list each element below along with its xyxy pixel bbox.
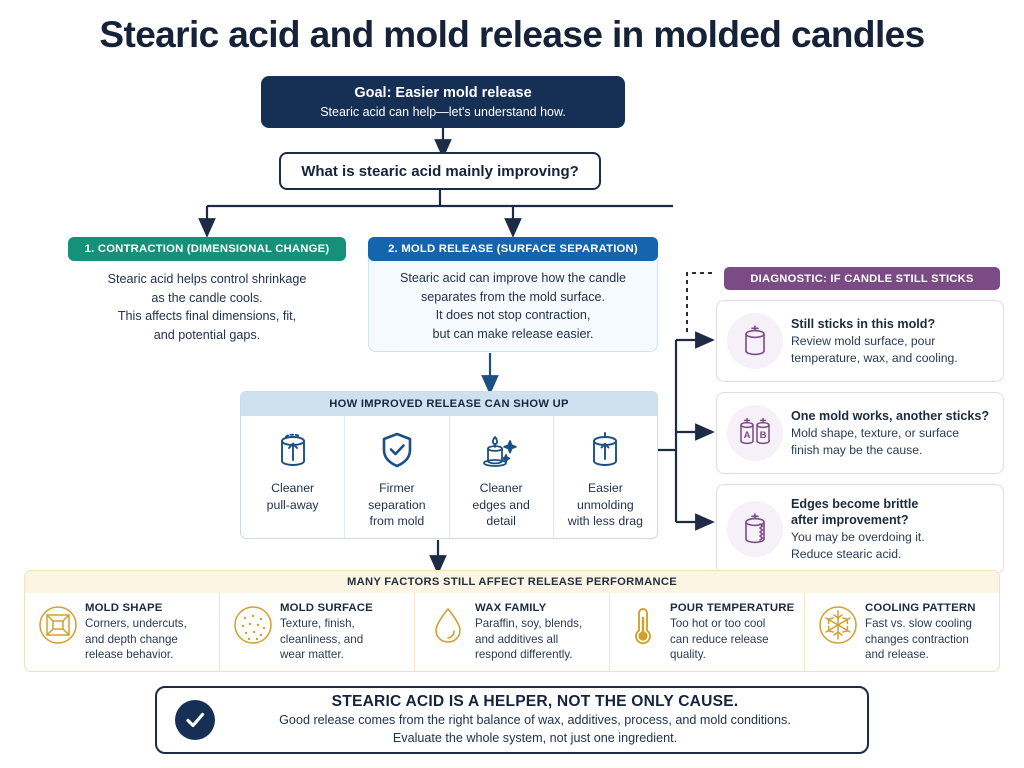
text-line: Firmer xyxy=(368,480,425,497)
text-line: This affects final dimensions, fit, xyxy=(78,307,336,326)
factor-name: WAX FAMILY xyxy=(475,602,601,614)
factor-name: MOLD SHAPE xyxy=(85,602,211,614)
goal-box: Goal: Easier mold release Stearic acid c… xyxy=(261,76,625,128)
text-line: and depth change xyxy=(85,632,211,648)
text-line: Paraffin, soy, blends, xyxy=(475,616,601,632)
text-line: Cleaner xyxy=(472,480,529,497)
text-line: detail xyxy=(472,513,529,530)
branch-contraction-header: 1. CONTRACTION (DIMENSIONAL CHANGE) xyxy=(68,237,346,261)
two-molds-ab-icon: A B xyxy=(727,405,783,461)
diagnostic-card-edges-brittle: Edges become brittle after improvement? … xyxy=(716,484,1004,574)
text-line: from mold xyxy=(368,513,425,530)
release-items: Cleaner pull-away Firmer separation from… xyxy=(241,416,657,539)
text-line: Edges become brittle xyxy=(791,496,993,512)
text-line: Good release comes from the right balanc… xyxy=(221,712,849,730)
text-line: cleanliness, and xyxy=(280,632,406,648)
goal-subtext: Stearic acid can help—let's understand h… xyxy=(320,104,566,120)
cylinder-lift-icon xyxy=(582,427,628,473)
text-line: with less drag xyxy=(568,513,643,530)
text-line: Texture, finish, xyxy=(280,616,406,632)
text-line: wear matter. xyxy=(280,647,406,663)
release-panel-header: HOW IMPROVED RELEASE CAN SHOW UP xyxy=(241,392,657,416)
text-line: and potential gaps. xyxy=(78,326,336,345)
text-line: quality. xyxy=(670,647,796,663)
text-line: Mold shape, texture, or surface xyxy=(791,425,993,442)
factors-panel: MANY FACTORS STILL AFFECT RELEASE PERFOR… xyxy=(24,570,1000,672)
factor-wax-family: WAX FAMILY Paraffin, soy, blends, and ad… xyxy=(415,593,610,672)
branch-mold-release: 2. MOLD RELEASE (SURFACE SEPARATION) Ste… xyxy=(368,237,658,352)
summary-title: STEARIC ACID IS A HELPER, NOT THE ONLY C… xyxy=(221,693,849,711)
summary-body: Good release comes from the right balanc… xyxy=(221,712,849,747)
shield-check-icon xyxy=(374,427,420,473)
diagnostic-card-body: Review mold surface, pour temperature, w… xyxy=(791,333,993,366)
diagnostic-card-title: Still sticks in this mold? xyxy=(791,316,993,332)
text-line: Too hot or too cool xyxy=(670,616,796,632)
diagnostic-header: DIAGNOSTIC: IF CANDLE STILL STICKS xyxy=(724,267,1000,290)
summary-text: STEARIC ACID IS A HELPER, NOT THE ONLY C… xyxy=(221,693,849,747)
wax-droplet-icon xyxy=(425,602,471,646)
svg-text:B: B xyxy=(760,430,767,441)
thermometer-icon xyxy=(620,602,666,646)
release-item-cleaner-pull-away: Cleaner pull-away xyxy=(241,416,345,539)
mold-surface-texture-icon xyxy=(230,602,276,646)
candle-sparkle-icon xyxy=(478,427,524,473)
goal-heading: Goal: Easier mold release xyxy=(354,85,531,102)
text-line: pull-away xyxy=(267,497,319,514)
factor-body: Paraffin, soy, blends, and additives all… xyxy=(475,616,601,663)
factor-text: COOLING PATTERN Fast vs. slow cooling ch… xyxy=(861,602,991,663)
factor-pour-temperature: POUR TEMPERATURE Too hot or too cool can… xyxy=(610,593,805,672)
factor-text: MOLD SURFACE Texture, finish, cleanlines… xyxy=(276,602,406,663)
text-line: Stearic acid can improve how the candle xyxy=(379,269,647,288)
text-line: after improvement? xyxy=(791,512,993,528)
text-line: edges and xyxy=(472,497,529,514)
question-box: What is stearic acid mainly improving? xyxy=(279,152,601,190)
text-line: You may be overdoing it. xyxy=(791,529,993,546)
text-line: Corners, undercuts, xyxy=(85,616,211,632)
factor-body: Fast vs. slow cooling changes contractio… xyxy=(865,616,991,663)
text-line: but can make release easier. xyxy=(379,325,647,344)
factors-items: MOLD SHAPE Corners, undercuts, and depth… xyxy=(25,593,999,672)
text-line: It does not stop contraction, xyxy=(379,306,647,325)
text-line: can reduce release xyxy=(670,632,796,648)
factor-cooling-pattern: COOLING PATTERN Fast vs. slow cooling ch… xyxy=(805,593,999,672)
release-item-label: Cleaner pull-away xyxy=(267,480,319,513)
diagnostic-card-body: You may be overdoing it. Reduce stearic … xyxy=(791,529,993,562)
text-line: Stearic acid helps control shrinkage xyxy=(78,270,336,289)
release-item-label: Firmer separation from mold xyxy=(368,480,425,530)
factor-body: Corners, undercuts, and depth change rel… xyxy=(85,616,211,663)
release-item-cleaner-edges: Cleaner edges and detail xyxy=(450,416,554,539)
release-panel: HOW IMPROVED RELEASE CAN SHOW UP Cleaner… xyxy=(240,391,658,539)
text-line: temperature, wax, and cooling. xyxy=(791,350,993,367)
text-line: release behavior. xyxy=(85,647,211,663)
release-item-easier-unmolding: Easier unmolding with less drag xyxy=(554,416,657,539)
diagnostic-card-text: One mold works, another sticks? Mold sha… xyxy=(791,408,993,458)
diagnostic-card-body: Mold shape, texture, or surface finish m… xyxy=(791,425,993,458)
brittle-edge-candle-icon xyxy=(727,501,783,557)
branch-contraction-body: Stearic acid helps control shrinkage as … xyxy=(68,261,346,344)
branch-mold-release-body: Stearic acid can improve how the candle … xyxy=(369,260,657,343)
release-item-label: Easier unmolding with less drag xyxy=(568,480,643,530)
factor-mold-surface: MOLD SURFACE Texture, finish, cleanlines… xyxy=(220,593,415,672)
branch-mold-release-header: 2. MOLD RELEASE (SURFACE SEPARATION) xyxy=(368,237,658,261)
diagnostic-card-still-sticks: Still sticks in this mold? Review mold s… xyxy=(716,300,1004,382)
factor-body: Too hot or too cool can reduce release q… xyxy=(670,616,796,663)
branch-contraction: 1. CONTRACTION (DIMENSIONAL CHANGE) Stea… xyxy=(68,237,346,344)
text-line: changes contraction xyxy=(865,632,991,648)
release-item-label: Cleaner edges and detail xyxy=(472,480,529,530)
candle-cylinder-icon xyxy=(727,313,783,369)
factor-mold-shape: MOLD SHAPE Corners, undercuts, and depth… xyxy=(25,593,220,672)
text-line: Cleaner xyxy=(267,480,319,497)
infographic-canvas: Stearic acid and mold release in molded … xyxy=(0,0,1024,768)
text-line: as the candle cools. xyxy=(78,289,336,308)
text-line: unmolding xyxy=(568,497,643,514)
diagnostic-card-title: One mold works, another sticks? xyxy=(791,408,993,424)
text-line: Review mold surface, pour xyxy=(791,333,993,350)
factor-text: WAX FAMILY Paraffin, soy, blends, and ad… xyxy=(471,602,601,663)
check-circle-icon xyxy=(175,700,215,740)
svg-text:A: A xyxy=(744,430,751,441)
diagnostic-card-title: Edges become brittle after improvement? xyxy=(791,496,993,528)
text-line: and release. xyxy=(865,647,991,663)
cylinder-up-arrow-icon xyxy=(270,427,316,473)
text-line: Easier xyxy=(568,480,643,497)
factor-body: Texture, finish, cleanliness, and wear m… xyxy=(280,616,406,663)
factor-text: MOLD SHAPE Corners, undercuts, and depth… xyxy=(81,602,211,663)
factor-name: COOLING PATTERN xyxy=(865,602,991,614)
diagnostic-card-text: Still sticks in this mold? Review mold s… xyxy=(791,316,993,366)
snowflake-icon xyxy=(815,602,861,646)
text-line: Evaluate the whole system, not just one … xyxy=(221,730,849,748)
factor-name: POUR TEMPERATURE xyxy=(670,602,796,614)
diagnostic-card-one-mold-works: A B One mold works, another sticks? Mold… xyxy=(716,392,1004,474)
factor-name: MOLD SURFACE xyxy=(280,602,406,614)
diagnostic-card-text: Edges become brittle after improvement? … xyxy=(791,496,993,562)
mold-shape-icon xyxy=(35,602,81,646)
text-line: separates from the mold surface. xyxy=(379,288,647,307)
text-line: Fast vs. slow cooling xyxy=(865,616,991,632)
text-line: Reduce stearic acid. xyxy=(791,546,993,563)
release-item-firmer-separation: Firmer separation from mold xyxy=(345,416,449,539)
text-line: finish may be the cause. xyxy=(791,442,993,459)
factors-panel-header: MANY FACTORS STILL AFFECT RELEASE PERFOR… xyxy=(25,571,999,593)
text-line: respond differently. xyxy=(475,647,601,663)
summary-box: STEARIC ACID IS A HELPER, NOT THE ONLY C… xyxy=(155,686,869,754)
factor-text: POUR TEMPERATURE Too hot or too cool can… xyxy=(666,602,796,663)
text-line: and additives all xyxy=(475,632,601,648)
text-line: separation xyxy=(368,497,425,514)
